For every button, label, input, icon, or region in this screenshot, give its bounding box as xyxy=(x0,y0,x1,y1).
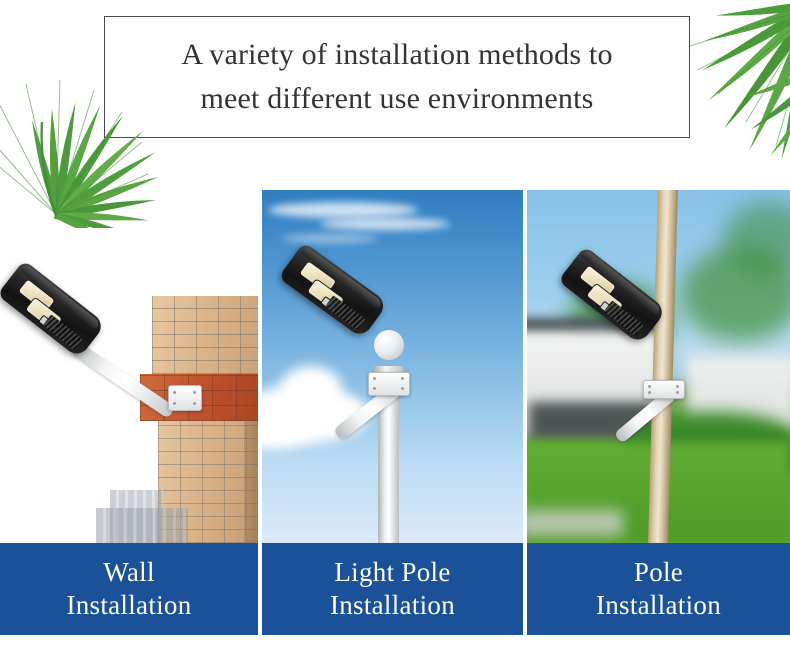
background-skyline xyxy=(96,508,188,543)
caption-pole-installation[interactable]: Pole Installation xyxy=(527,543,790,635)
panel-wall-installation[interactable] xyxy=(0,190,258,543)
post-ball-finial xyxy=(374,330,404,360)
pole-mount-bracket xyxy=(368,372,410,396)
caption-line-1: Light Pole xyxy=(334,556,450,589)
wall-mount-bracket xyxy=(168,385,202,411)
cloud-wisp-2 xyxy=(320,218,450,230)
headline-box: A variety of installation methods to mee… xyxy=(104,16,690,138)
caption-wall-installation[interactable]: Wall Installation xyxy=(0,543,258,635)
panel-pole-installation[interactable] xyxy=(527,190,790,543)
panel-light-pole-installation[interactable] xyxy=(262,190,523,543)
headline-line-1: A variety of installation methods to xyxy=(181,33,612,77)
heat-sink-fins xyxy=(43,314,83,350)
caption-line-1: Pole xyxy=(634,556,683,589)
header-section: A variety of installation methods to mee… xyxy=(0,0,790,190)
pole-clamp-bracket xyxy=(643,380,685,399)
brick-pillar-top xyxy=(152,296,258,374)
headline-line-2: meet different use environments xyxy=(200,77,593,121)
caption-line-2: Installation xyxy=(596,589,721,622)
caption-line-2: Installation xyxy=(330,589,455,622)
cloud-wisp-1 xyxy=(268,202,418,218)
caption-light-pole-installation[interactable]: Light Pole Installation xyxy=(262,543,523,635)
installation-panels xyxy=(0,190,790,543)
garden-path-blur xyxy=(527,510,623,536)
caption-line-1: Wall xyxy=(103,556,155,589)
fixture-housing xyxy=(0,260,106,359)
cloud-wisp-3 xyxy=(282,234,378,243)
caption-bars: Wall Installation Light Pole Installatio… xyxy=(0,543,790,635)
marketing-banner: A variety of installation methods to mee… xyxy=(0,0,790,646)
caption-line-2: Installation xyxy=(66,589,191,622)
brick-pillar-shadow-edge xyxy=(244,421,258,543)
